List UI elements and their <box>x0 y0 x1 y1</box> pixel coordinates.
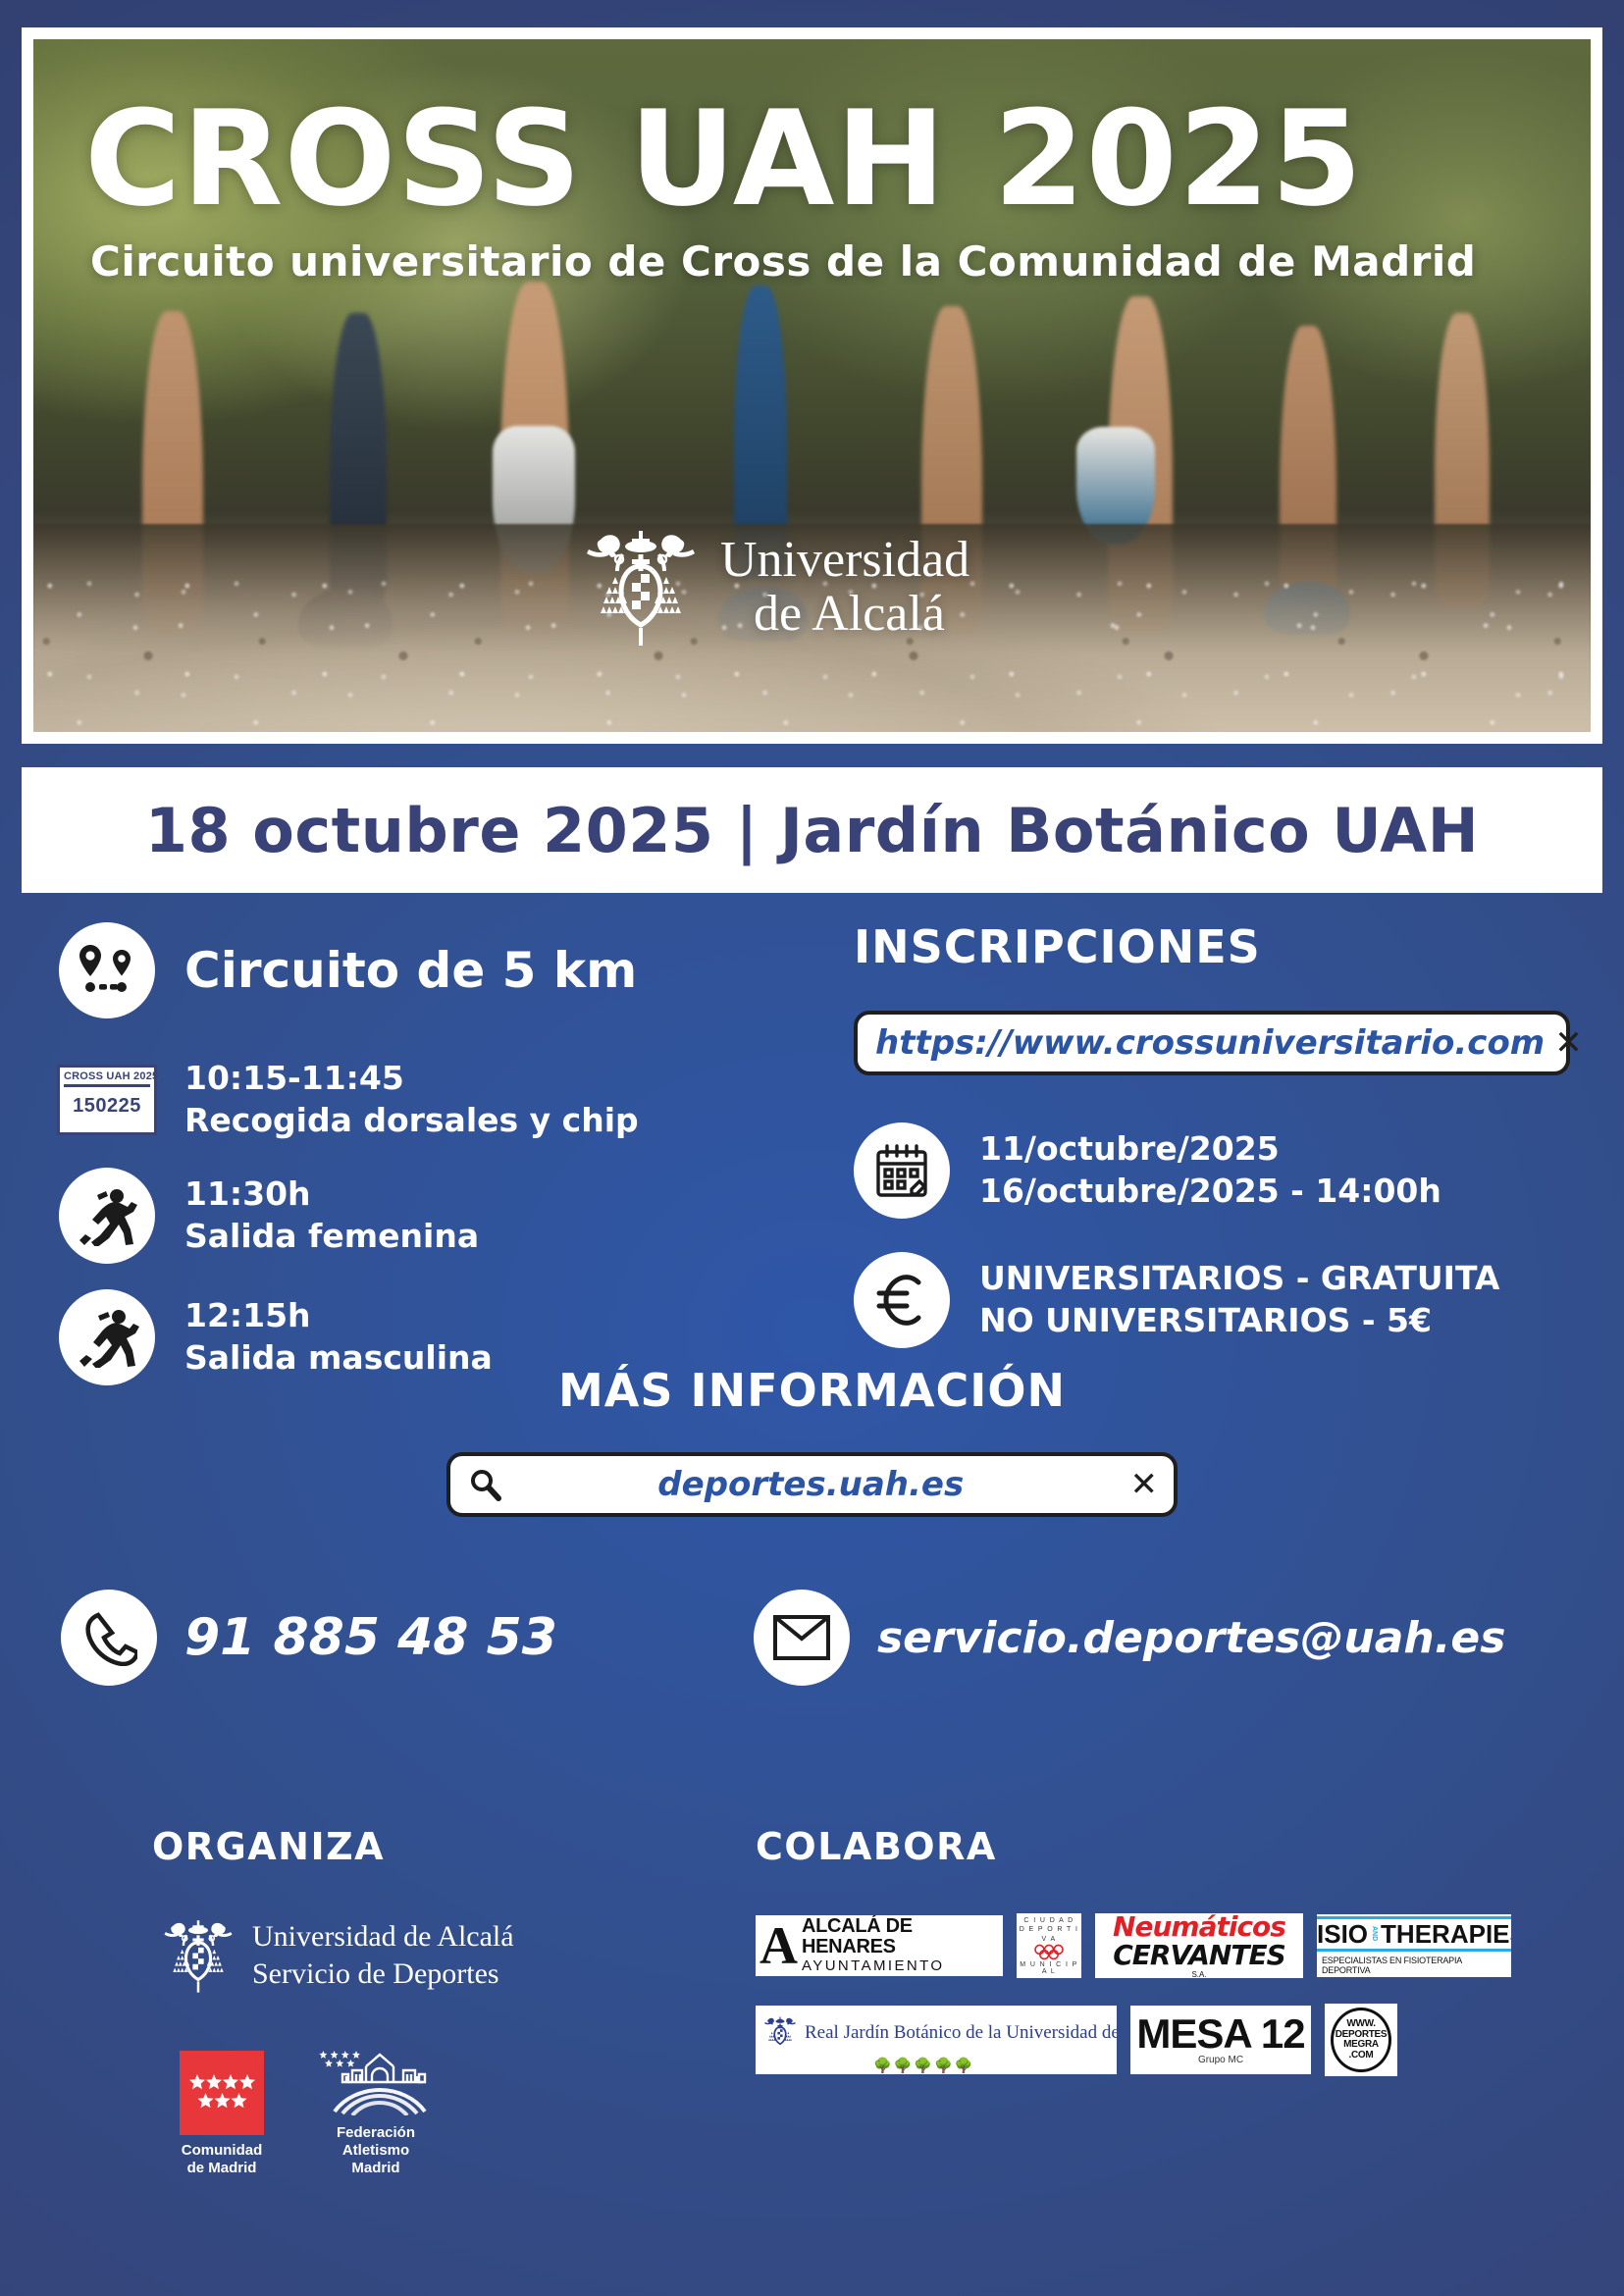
olympic-rings-icon <box>1027 1944 1071 1961</box>
female-start-text: 11:30h Salida femenina <box>184 1174 479 1258</box>
ciudad-deportiva-top: C I U D A D D E P O R T I V A <box>1017 1916 1081 1944</box>
uah-wordmark-line2: de Alcalá <box>720 587 969 641</box>
fisio-box: FISIO AND THERAPIES <box>1317 1916 1511 1952</box>
close-x-icon[interactable]: ✕ <box>1130 1468 1159 1501</box>
page-title: CROSS UAH 2025 <box>84 93 1363 225</box>
uah-wordmark-line1: Universidad <box>720 532 969 588</box>
more-info-search-box[interactable]: deportes.uah.es ✕ <box>446 1452 1178 1517</box>
phone-contact[interactable]: 91 885 48 53 <box>61 1590 557 1686</box>
runner-male-icon <box>74 1307 140 1368</box>
registration-fees-text: UNIVERSITARIOS - GRATUITA NO UNIVERSITAR… <box>979 1258 1499 1342</box>
registration-date-open: 11/octubre/2025 <box>979 1128 1441 1171</box>
puerta-alcala-track-icon <box>309 2043 443 2115</box>
fisio-line2: THERAPIES <box>1381 1921 1511 1947</box>
bib-pickup-time: 10:15-11:45 <box>184 1058 639 1100</box>
runner-female-icon <box>74 1185 140 1246</box>
uah-crest-icon <box>162 1913 235 1998</box>
federacion-atletismo-madrid-logo: Federación Atletismo Madrid <box>309 2043 443 2177</box>
calendar-icon <box>871 1140 932 1201</box>
rjb-text: Real Jardín Botánico de la Universidad d… <box>805 2022 1117 2044</box>
mesa-line1: MESA 12 <box>1136 2014 1304 2054</box>
organiza-section: ORGANIZA <box>152 1825 702 2177</box>
phone-number: 91 885 48 53 <box>184 1608 557 1667</box>
trees-icon: 🌳🌳🌳🌳🌳 <box>873 2059 974 2073</box>
phone-icon-badge <box>61 1590 157 1686</box>
colabora-row-2: Real Jardín Botánico de la Universidad d… <box>756 2004 1570 2076</box>
male-start-time: 12:15h <box>184 1295 493 1337</box>
registration-column: INSCRIPCIONES https://www.crossuniversit… <box>854 920 1570 1374</box>
fisio-line1: FISIO <box>1317 1921 1368 1947</box>
fee-non-university: NO UNIVERSITARIOS - 5€ <box>979 1300 1499 1342</box>
uah-watermark-logo: Universidad de Alcalá <box>583 522 969 652</box>
organiza-heading: ORGANIZA <box>152 1825 702 1868</box>
cd-line3: M U N I C I P A L <box>1017 1961 1081 1975</box>
seven-stars-icon <box>187 2070 256 2115</box>
registration-url-text: https://www.crossuniversitario.com <box>875 1023 1545 1063</box>
megra-line4: .COM <box>1349 2051 1374 2061</box>
bib-pickup-row: CROSS UAH 2025 150225 10:15-11:45 Recogi… <box>59 1058 785 1142</box>
cm-caption-line1: Comunidad <box>180 2142 264 2160</box>
bib-pickup-text: 10:15-11:45 Recogida dorsales y chip <box>184 1058 639 1142</box>
registration-url-search-box[interactable]: https://www.crossuniversitario.com ✕ <box>854 1011 1570 1075</box>
cd-line2: D E P O R T I V A <box>1017 1925 1081 1944</box>
race-bib-icon: CROSS UAH 2025 150225 <box>57 1065 157 1135</box>
registration-fees-row: UNIVERSITARIOS - GRATUITA NO UNIVERSITAR… <box>854 1252 1570 1348</box>
uah-crest-icon <box>583 522 699 652</box>
organiza-logos: Comunidad de Madrid <box>180 2043 702 2177</box>
runner-female-icon-badge <box>59 1168 155 1264</box>
bib-pickup-desc: Recogida dorsales y chip <box>184 1100 639 1142</box>
footer: ORGANIZA <box>0 1825 1624 2296</box>
megra-line3: MEGRA <box>1343 2040 1379 2051</box>
fee-university: UNIVERSITARIOS - GRATUITA <box>979 1258 1499 1300</box>
cm-caption-line2: de Madrid <box>180 2160 264 2177</box>
neumaticos-line1: Neumáticos <box>1113 1913 1285 1941</box>
calendar-icon-badge <box>854 1122 950 1219</box>
envelope-icon <box>771 1613 832 1662</box>
colabora-section: COLABORA A ALCALÁ DE HENARES AYUNTAMIENT… <box>756 1825 1570 2102</box>
female-start-row: 11:30h Salida femenina <box>59 1168 785 1264</box>
federacion-caption: Federación Atletismo Madrid <box>309 2124 443 2177</box>
megra-ring: WWW. DEPORTES MEGRA .COM <box>1331 2008 1391 2072</box>
comunidad-de-madrid-emblem <box>180 2051 264 2135</box>
colabora-row-1: A ALCALÁ DE HENARES AYUNTAMIENTO C I U D… <box>756 1913 1570 1978</box>
cd-line1: C I U D A D <box>1017 1916 1081 1925</box>
organiza-uah-line2: Servicio de Deportes <box>252 1956 514 1993</box>
email-contact[interactable]: servicio.deportes@uah.es <box>754 1590 1506 1686</box>
ayuntamiento-text: ALCALÁ DE HENARES AYUNTAMIENTO <box>802 1916 999 1975</box>
neumaticos-line3: S.A. <box>1191 1970 1206 1979</box>
uah-crest-icon <box>763 2008 797 2059</box>
comunidad-de-madrid-caption: Comunidad de Madrid <box>180 2142 264 2177</box>
search-icon <box>468 1468 501 1501</box>
fam-caption-line1: Federación Atletismo <box>309 2124 443 2160</box>
fisio-line3: ESPECIALISTAS EN FISIOTERAPIA DEPORTIVA <box>1322 1956 1506 1975</box>
sponsor-ciudad-deportiva-municipal: C I U D A D D E P O R T I V A M U N I C … <box>1017 1913 1081 1978</box>
organiza-uah-line1: Universidad de Alcalá <box>252 1918 514 1956</box>
mesa-line2: Grupo MC <box>1198 2055 1243 2065</box>
colabora-heading: COLABORA <box>756 1825 1570 1868</box>
ayuntamiento-line1: ALCALÁ DE HENARES <box>802 1915 913 1957</box>
sponsor-fisio-and-therapies: FISIO AND THERAPIES ESPECIALISTAS EN FIS… <box>1317 1914 1511 1977</box>
more-info-heading: MÁS INFORMACIÓN <box>558 1364 1066 1417</box>
hero-card: CROSS UAH 2025 Circuito universitario de… <box>22 27 1602 744</box>
circuit-label: Circuito de 5 km <box>184 943 637 998</box>
sponsor-ayuntamiento-alcala: A ALCALÁ DE HENARES AYUNTAMIENTO <box>756 1915 1003 1976</box>
registration-dates-row: 11/octubre/2025 16/octubre/2025 - 14:00h <box>854 1122 1570 1219</box>
euro-icon-badge <box>854 1252 950 1348</box>
rjb-line: Real Jardín Botánico de la Universidad d… <box>763 2008 1117 2059</box>
ayuntamiento-line2: AYUNTAMIENTO <box>802 1957 944 1974</box>
megra-line1: WWW. <box>1346 2019 1375 2030</box>
uah-wordmark: Universidad de Alcalá <box>720 533 969 641</box>
sponsor-neumaticos-cervantes: Neumáticos CERVANTES S.A. <box>1095 1913 1303 1978</box>
envelope-icon-badge <box>754 1590 850 1686</box>
date-location-banner: 18 octubre 2025 | Jardín Botánico UAH <box>22 767 1602 893</box>
neumaticos-line2: CERVANTES <box>1113 1942 1285 1969</box>
email-address: servicio.deportes@uah.es <box>877 1613 1506 1663</box>
date-location-text: 18 octubre 2025 | Jardín Botánico UAH <box>145 795 1479 866</box>
route-pins-icon-badge <box>59 922 155 1018</box>
more-info-section: MÁS INFORMACIÓN deportes.uah.es ✕ <box>0 1364 1624 1517</box>
registration-heading: INSCRIPCIONES <box>854 920 1570 973</box>
organiza-uah-logo: Universidad de Alcalá Servicio de Deport… <box>162 1913 702 1998</box>
page-subtitle: Circuito universitario de Cross de la Co… <box>90 241 1476 283</box>
hero-photo: CROSS UAH 2025 Circuito universitario de… <box>33 39 1591 732</box>
more-info-url-text: deportes.uah.es <box>501 1465 1121 1504</box>
contact-row: 91 885 48 53 servicio.deportes@uah.es <box>0 1590 1624 1686</box>
circuit-label-wrap: Circuito de 5 km <box>184 943 637 998</box>
fam-caption-line2: Madrid <box>309 2160 443 2177</box>
female-start-time: 11:30h <box>184 1174 479 1216</box>
registration-dates-text: 11/octubre/2025 16/octubre/2025 - 14:00h <box>979 1128 1441 1213</box>
race-bib-title: CROSS UAH 2025 <box>64 1070 150 1087</box>
euro-icon <box>873 1270 930 1331</box>
circuit-row: Circuito de 5 km <box>59 922 785 1018</box>
sponsor-real-jardin-botanico: Real Jardín Botánico de la Universidad d… <box>756 2006 1117 2074</box>
fisio-and: AND <box>1371 1926 1378 1941</box>
route-pins-icon <box>76 943 138 998</box>
organiza-uah-text: Universidad de Alcalá Servicio de Deport… <box>252 1918 514 1994</box>
female-start-desc: Salida femenina <box>184 1216 479 1258</box>
race-bib-icon-wrap: CROSS UAH 2025 150225 <box>59 1065 155 1135</box>
race-bib-number: 150225 <box>73 1095 141 1118</box>
comunidad-de-madrid-logo: Comunidad de Madrid <box>180 2051 264 2177</box>
phone-icon <box>80 1609 137 1666</box>
poster-root: CROSS UAH 2025 Circuito universitario de… <box>0 0 1624 2296</box>
sponsor-deportes-megra: WWW. DEPORTES MEGRA .COM <box>1325 2004 1397 2076</box>
sponsor-mesa-12: MESA 12 Grupo MC <box>1130 2006 1311 2074</box>
schedule-column: Circuito de 5 km CROSS UAH 2025 150225 1… <box>59 922 785 1411</box>
registration-date-close: 16/octubre/2025 - 14:00h <box>979 1171 1441 1213</box>
ayuntamiento-a-glyph: A <box>760 1922 798 1970</box>
close-x-icon[interactable]: ✕ <box>1554 1026 1583 1060</box>
